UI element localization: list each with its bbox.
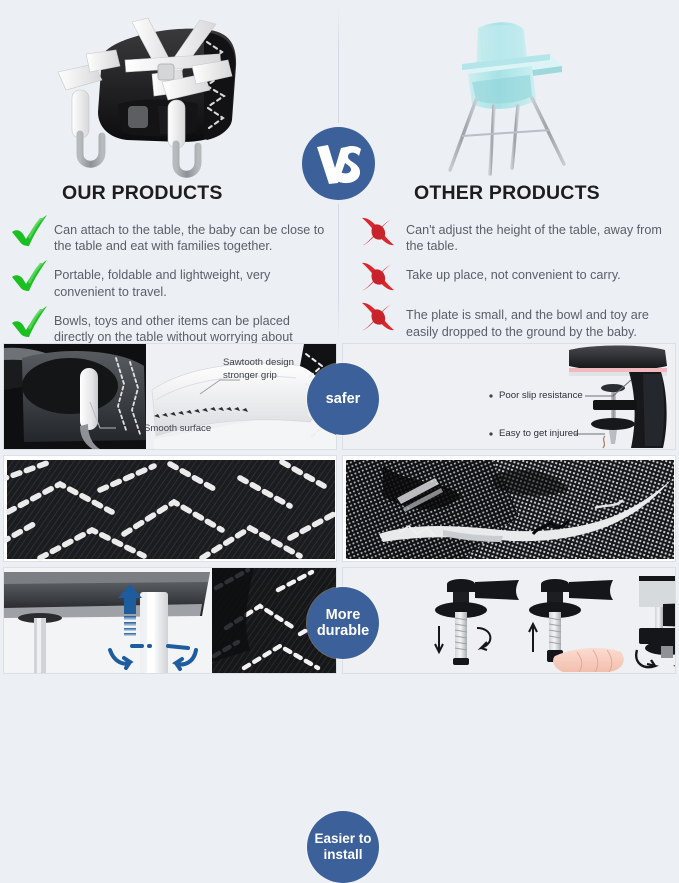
green-check-icon <box>10 260 54 294</box>
badge-safer-label: safer <box>326 391 361 407</box>
feature-text: Can attach to the table, the baby can be… <box>54 219 330 254</box>
feature-item: Take up place, not convenient to carry. <box>358 264 678 294</box>
other-detail-panel-safer: Poor slip resistance Easy to get injured <box>342 343 676 450</box>
other-product-image <box>432 18 612 178</box>
feature-item: The plate is small, and the bowl and toy… <box>358 304 678 339</box>
our-product-image <box>32 8 284 184</box>
feature-text: Can't adjust the height of the table, aw… <box>406 219 678 254</box>
red-cross-icon <box>358 300 406 334</box>
our-detail-panel-safer: Sawtooth design stronger grip Smooth sur… <box>3 343 337 450</box>
our-detail-panel-install <box>3 567 337 674</box>
feature-text: The plate is small, and the bowl and toy… <box>406 304 678 339</box>
row-more-durable: More durable <box>3 455 676 562</box>
infographic-page: OUR PRODUCTS Can attach to the table, th… <box>0 0 679 679</box>
callout-smooth: Smooth surface <box>144 423 211 435</box>
feature-text: Take up place, not convenient to carry. <box>406 264 621 283</box>
badge-safer: safer <box>307 363 379 435</box>
vs-badge-icon <box>302 127 375 200</box>
badge-easier-to-install-label: Easier to install <box>307 831 379 863</box>
red-cross-icon <box>358 215 406 249</box>
comparison-rows: Sawtooth design stronger grip Smooth sur… <box>0 340 679 679</box>
other-detail-panel-install <box>342 567 676 674</box>
feature-item: Portable, foldable and lightweight, very… <box>10 264 330 299</box>
other-products-title: OTHER PRODUCTS <box>414 182 678 205</box>
our-detail-panel-durable <box>3 455 337 562</box>
other-detail-panel-durable <box>342 455 676 562</box>
callout-poor-slip: Poor slip resistance <box>499 390 583 402</box>
callout-sawtooth: Sawtooth design stronger grip <box>223 357 319 382</box>
top-comparison-section: OUR PRODUCTS Can attach to the table, th… <box>0 0 679 338</box>
green-check-icon <box>10 215 54 249</box>
red-cross-icon <box>358 260 406 294</box>
feature-item: Can attach to the table, the baby can be… <box>10 219 330 254</box>
badge-more-durable: More durable <box>307 587 379 659</box>
badge-more-durable-label: More durable <box>307 607 379 639</box>
badge-easier-to-install: Easier to install <box>307 811 379 883</box>
feature-item: Can't adjust the height of the table, aw… <box>358 219 678 254</box>
our-products-title: OUR PRODUCTS <box>62 182 330 205</box>
feature-text: Portable, foldable and lightweight, very… <box>54 264 330 299</box>
green-check-icon <box>10 306 54 340</box>
row-safer: Sawtooth design stronger grip Smooth sur… <box>3 343 676 450</box>
other-products-column: OTHER PRODUCTS Can't adjust the height o… <box>358 182 678 350</box>
callout-easy-injured: Easy to get injured <box>499 428 578 440</box>
